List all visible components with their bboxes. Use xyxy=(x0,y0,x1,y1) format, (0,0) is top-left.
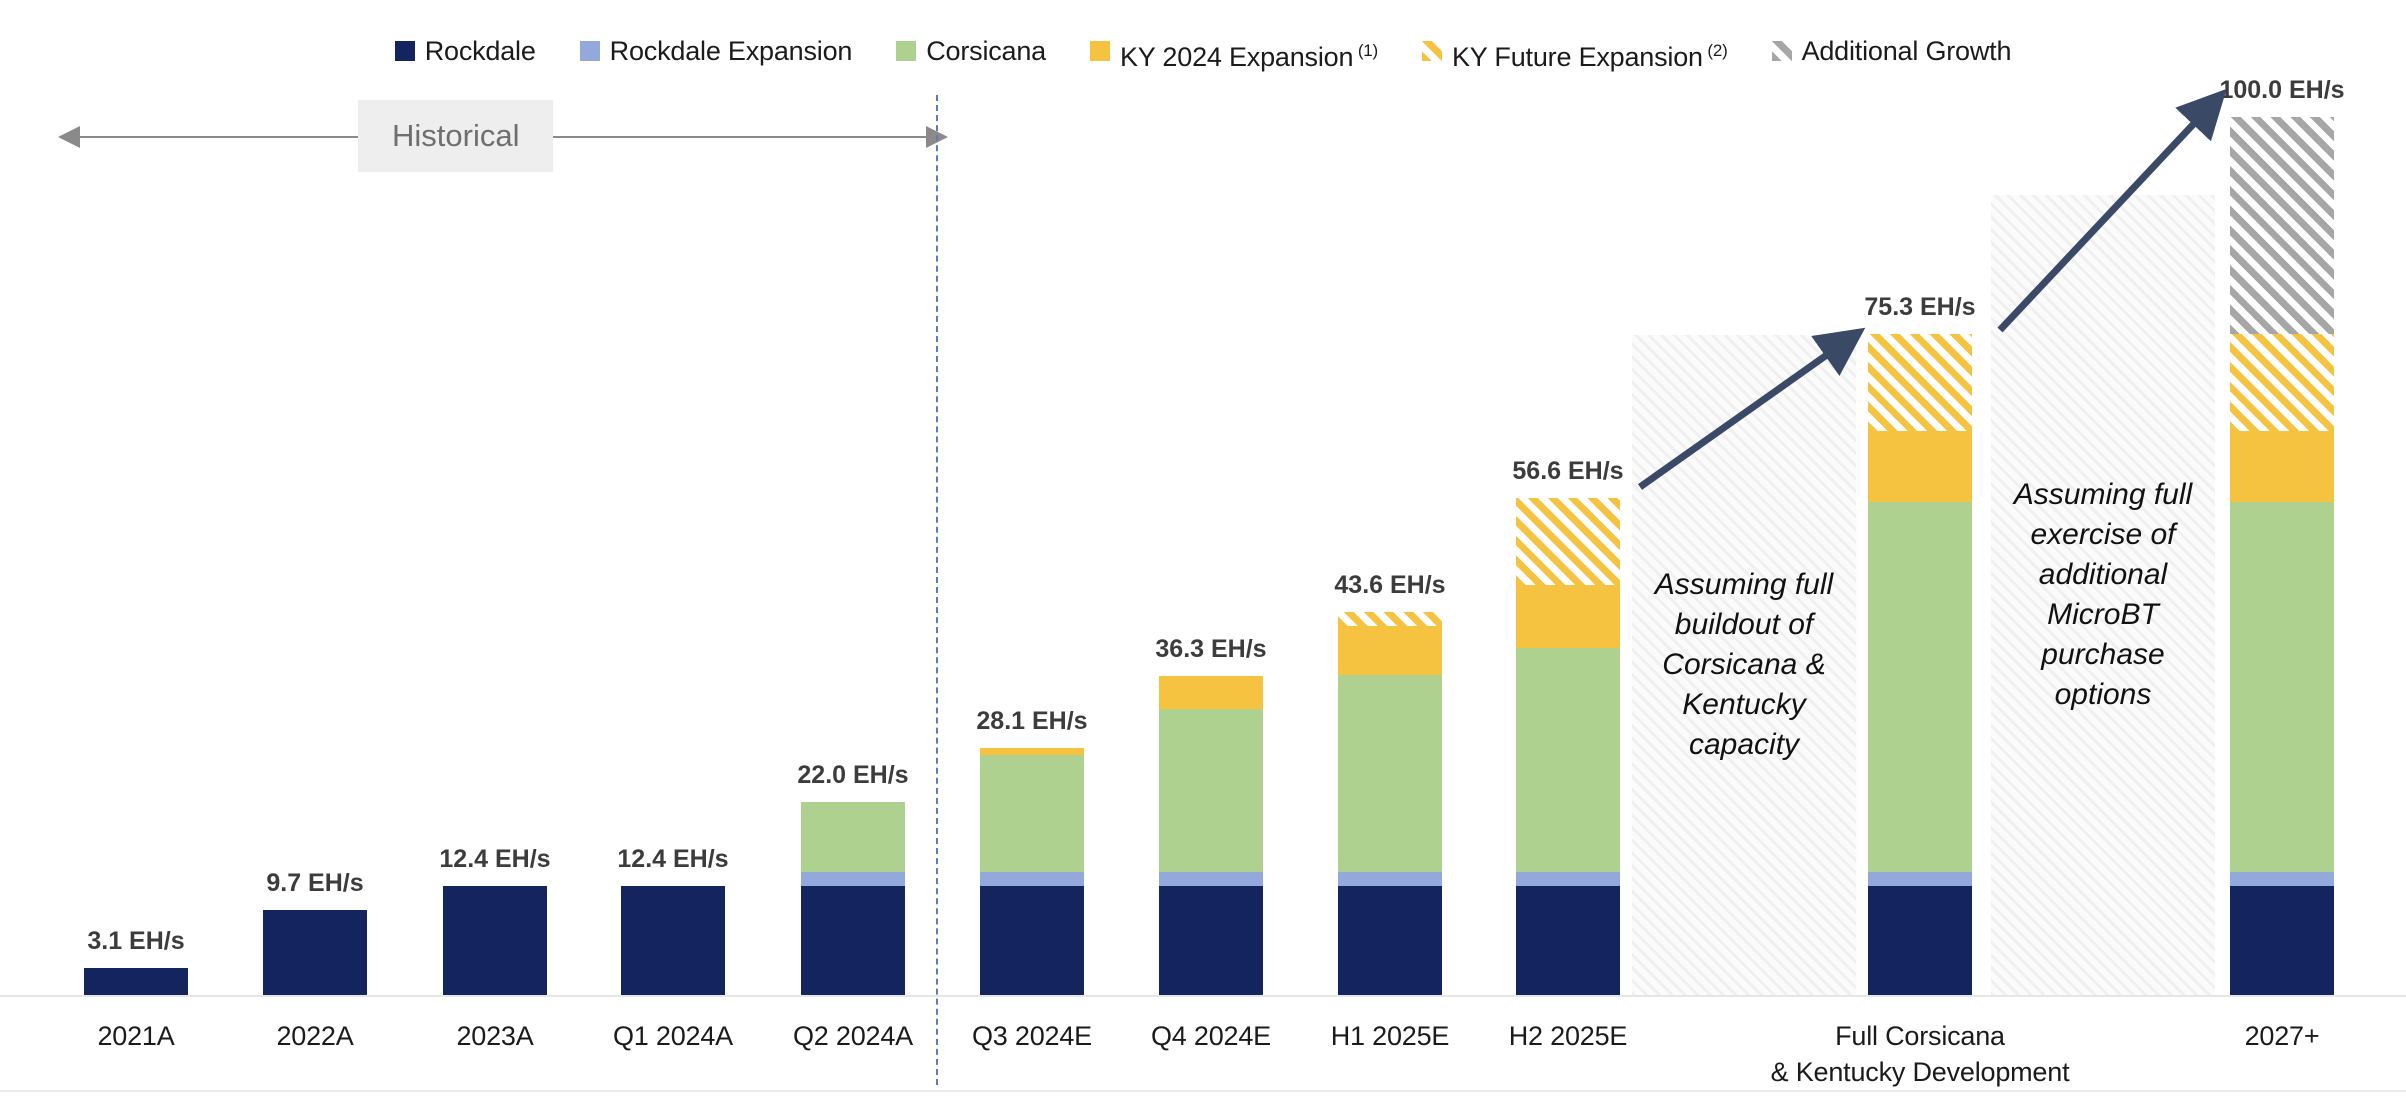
bar-segment-corsicana[interactable] xyxy=(980,755,1084,872)
stacked-bar[interactable] xyxy=(84,968,188,995)
bar-segment-corsicana[interactable] xyxy=(1159,709,1263,872)
bar-segment-rockdale[interactable] xyxy=(263,910,367,995)
category-label-line: & Kentucky Development xyxy=(1770,1054,2070,1090)
bar-segment-ky-2024-expansion[interactable] xyxy=(1338,626,1442,674)
bar-segment-ky-2024-expansion[interactable] xyxy=(980,748,1084,755)
hashrate-growth-chart: RockdaleRockdale ExpansionCorsicanaKY 20… xyxy=(0,0,2406,1112)
bar-segment-ky-future-expansion[interactable] xyxy=(1338,612,1442,626)
bar-value-label: 28.1 EH/s xyxy=(902,707,1162,736)
bar-segment-rockdale[interactable] xyxy=(1516,886,1620,995)
stacked-bar[interactable] xyxy=(1159,676,1263,995)
bar-segment-additional-growth[interactable] xyxy=(2230,117,2334,334)
bar-segment-ky-2024-expansion[interactable] xyxy=(1159,676,1263,708)
bar-segment-rockdale[interactable] xyxy=(443,886,547,995)
stacked-bar[interactable] xyxy=(1516,498,1620,995)
bar-group[interactable]: 36.3 EH/s xyxy=(1159,676,1263,995)
bar-segment-rockdale[interactable] xyxy=(980,886,1084,995)
bar-segment-rockdale[interactable] xyxy=(1159,886,1263,995)
bar-segment-rockdale[interactable] xyxy=(621,886,725,995)
annotation-panel: Assuming full buildout of Corsicana & Ke… xyxy=(1632,335,1856,995)
bar-segment-rockdale-expansion[interactable] xyxy=(980,872,1084,886)
bar-group[interactable]: 9.7 EH/s xyxy=(263,910,367,995)
x-axis-baseline xyxy=(0,995,2406,997)
stacked-bar[interactable] xyxy=(801,802,905,995)
annotation-text: Assuming full exercise of additional Mic… xyxy=(1991,475,2215,715)
bar-value-label: 100.0 EH/s xyxy=(2152,76,2406,105)
bar-segment-rockdale[interactable] xyxy=(2230,886,2334,995)
bar-value-label: 43.6 EH/s xyxy=(1260,571,1520,600)
bar-segment-corsicana[interactable] xyxy=(801,802,905,872)
bar-segment-rockdale-expansion[interactable] xyxy=(2230,872,2334,886)
annotation-panel: Assuming full exercise of additional Mic… xyxy=(1991,195,2215,995)
bar-group[interactable]: 12.4 EH/s xyxy=(443,886,547,995)
plot-area: 3.1 EH/s9.7 EH/s12.4 EH/s12.4 EH/s22.0 E… xyxy=(0,0,2406,1112)
bar-segment-corsicana[interactable] xyxy=(1516,648,1620,872)
category-label-line: Full Corsicana xyxy=(1770,1018,2070,1054)
stacked-bar[interactable] xyxy=(443,886,547,995)
category-label: 2027+ xyxy=(2132,1018,2406,1054)
bar-group[interactable]: 22.0 EH/s xyxy=(801,802,905,995)
bar-segment-rockdale[interactable] xyxy=(801,886,905,995)
stacked-bar[interactable] xyxy=(263,910,367,995)
stacked-bar[interactable] xyxy=(621,886,725,995)
bar-segment-corsicana[interactable] xyxy=(1338,675,1442,873)
bar-group[interactable]: 12.4 EH/s xyxy=(621,886,725,995)
bar-group[interactable]: 75.3 EH/s xyxy=(1868,334,1972,995)
category-label: Full Corsicana& Kentucky Development xyxy=(1770,1018,2070,1090)
category-label-line: 2027+ xyxy=(2132,1018,2406,1054)
bar-segment-rockdale[interactable] xyxy=(1868,886,1972,995)
bar-group[interactable]: 56.6 EH/s xyxy=(1516,498,1620,995)
stacked-bar[interactable] xyxy=(2230,117,2334,995)
bar-segment-rockdale-expansion[interactable] xyxy=(1516,872,1620,886)
bar-segment-ky-2024-expansion[interactable] xyxy=(2230,431,2334,501)
bar-value-label: 36.3 EH/s xyxy=(1081,635,1341,664)
bar-segment-rockdale-expansion[interactable] xyxy=(1159,872,1263,886)
bar-group[interactable]: 3.1 EH/s xyxy=(84,968,188,995)
bar-segment-corsicana[interactable] xyxy=(2230,502,2334,873)
bar-segment-ky-2024-expansion[interactable] xyxy=(1868,431,1972,501)
bar-value-label: 22.0 EH/s xyxy=(723,761,983,790)
bar-segment-rockdale-expansion[interactable] xyxy=(1868,872,1972,886)
bar-segment-ky-future-expansion[interactable] xyxy=(1868,334,1972,431)
bar-segment-rockdale[interactable] xyxy=(1338,886,1442,995)
stacked-bar[interactable] xyxy=(980,748,1084,995)
bottom-rule xyxy=(0,1090,2406,1092)
bar-segment-ky-future-expansion[interactable] xyxy=(2230,334,2334,431)
stacked-bar[interactable] xyxy=(1868,334,1972,995)
stacked-bar[interactable] xyxy=(1338,612,1442,995)
bar-segment-rockdale-expansion[interactable] xyxy=(801,872,905,886)
bar-value-label: 3.1 EH/s xyxy=(6,927,266,956)
bar-segment-rockdale-expansion[interactable] xyxy=(1338,872,1442,886)
bar-segment-ky-future-expansion[interactable] xyxy=(1516,498,1620,585)
category-label-line: H2 2025E xyxy=(1418,1018,1718,1054)
annotation-text: Assuming full buildout of Corsicana & Ke… xyxy=(1632,565,1856,765)
bar-group[interactable]: 43.6 EH/s xyxy=(1338,612,1442,995)
bar-segment-ky-2024-expansion[interactable] xyxy=(1516,585,1620,648)
bar-value-label: 12.4 EH/s xyxy=(543,845,803,874)
bar-group[interactable]: 28.1 EH/s xyxy=(980,748,1084,995)
bar-segment-rockdale[interactable] xyxy=(84,968,188,995)
bar-group[interactable]: 100.0 EH/s xyxy=(2230,117,2334,995)
category-label: H2 2025E xyxy=(1418,1018,1718,1054)
bar-segment-corsicana[interactable] xyxy=(1868,502,1972,873)
